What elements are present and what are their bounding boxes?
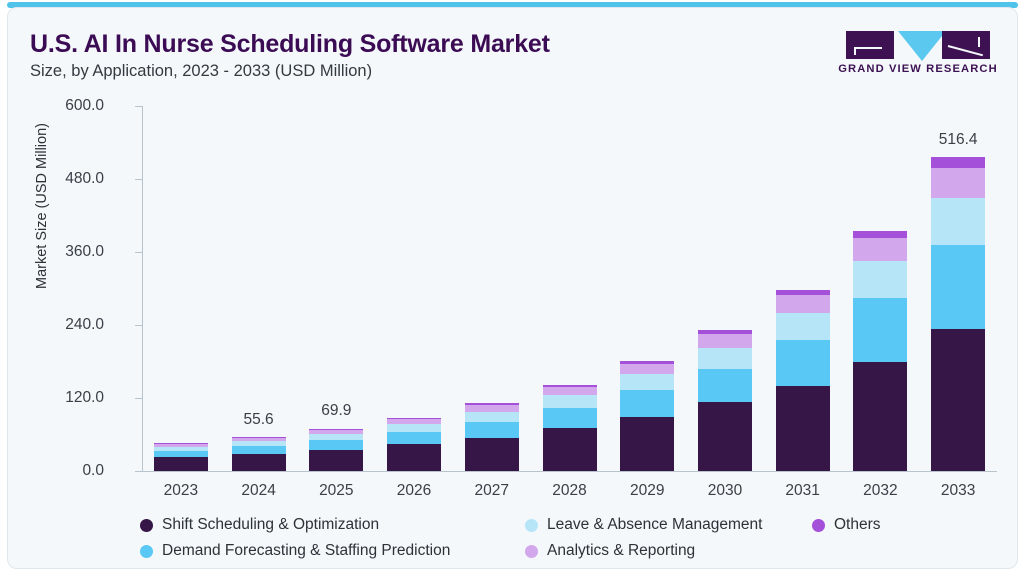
- bar-segment[interactable]: [620, 390, 674, 416]
- bar-segment[interactable]: [543, 395, 597, 408]
- bar-segment[interactable]: [387, 432, 441, 445]
- bar-segment[interactable]: [931, 329, 985, 471]
- bar-segment[interactable]: [853, 238, 907, 261]
- chart-screenshot: U.S. AI In Nurse Scheduling Software Mar…: [0, 0, 1025, 576]
- bar-segment[interactable]: [387, 424, 441, 432]
- y-axis-tick-label: 600.0: [26, 97, 104, 115]
- bar-2024[interactable]: [232, 437, 286, 471]
- y-axis-line: [142, 106, 143, 471]
- legend-color-dot: [812, 519, 825, 532]
- legend-item[interactable]: Analytics & Reporting: [525, 542, 695, 560]
- bar-segment[interactable]: [232, 446, 286, 454]
- y-axis-tick-mark: [135, 325, 143, 326]
- x-axis-line: [142, 471, 997, 472]
- legend-item[interactable]: Shift Scheduling & Optimization: [140, 516, 379, 534]
- bar-2030[interactable]: [698, 330, 752, 471]
- y-axis-tick-label: 0.0: [26, 462, 104, 480]
- bar-total-label: 69.9: [276, 402, 396, 420]
- bar-segment[interactable]: [698, 402, 752, 471]
- bar-segment[interactable]: [465, 412, 519, 422]
- chart-plot-area: Market Size (USD Million) 0.0120.0240.03…: [8, 8, 1018, 569]
- bar-segment[interactable]: [776, 313, 830, 340]
- legend-color-dot: [525, 545, 538, 558]
- bar-segment[interactable]: [698, 369, 752, 403]
- bar-segment[interactable]: [543, 408, 597, 428]
- y-axis-tick-label: 120.0: [26, 389, 104, 407]
- bar-2031[interactable]: [776, 290, 830, 471]
- bar-segment[interactable]: [465, 438, 519, 471]
- bar-total-label: 516.4: [898, 131, 1018, 149]
- bar-segment[interactable]: [387, 444, 441, 471]
- bar-segment[interactable]: [232, 454, 286, 471]
- x-axis-tick-label: 2033: [903, 482, 1013, 500]
- bar-segment[interactable]: [853, 298, 907, 362]
- legend-color-dot: [140, 545, 153, 558]
- bar-segment[interactable]: [931, 168, 985, 198]
- bar-segment[interactable]: [931, 157, 985, 168]
- legend-label: Demand Forecasting & Staffing Prediction: [162, 542, 450, 560]
- bar-segment[interactable]: [776, 386, 830, 471]
- y-axis-tick-mark: [135, 471, 143, 472]
- y-axis-tick-label: 360.0: [26, 243, 104, 261]
- y-axis-tick-mark: [135, 252, 143, 253]
- bar-segment[interactable]: [931, 245, 985, 328]
- bar-2023[interactable]: [154, 443, 208, 471]
- bar-segment[interactable]: [620, 374, 674, 390]
- bar-segment[interactable]: [309, 440, 363, 450]
- bar-2032[interactable]: [853, 231, 907, 471]
- bar-segment[interactable]: [931, 198, 985, 245]
- y-axis-tick-mark: [135, 106, 143, 107]
- bar-segment[interactable]: [776, 295, 830, 312]
- bar-segment[interactable]: [853, 362, 907, 472]
- bar-2033[interactable]: [931, 157, 985, 471]
- bar-segment[interactable]: [309, 450, 363, 471]
- legend-color-dot: [140, 519, 153, 532]
- bar-segment[interactable]: [620, 364, 674, 374]
- bar-segment[interactable]: [853, 261, 907, 297]
- legend-label: Leave & Absence Management: [547, 516, 762, 534]
- bar-segment[interactable]: [698, 348, 752, 369]
- bar-segment[interactable]: [154, 457, 208, 471]
- bar-segment[interactable]: [853, 231, 907, 239]
- legend-color-dot: [525, 519, 538, 532]
- bar-2027[interactable]: [465, 403, 519, 471]
- bar-2028[interactable]: [543, 385, 597, 471]
- bar-segment[interactable]: [465, 422, 519, 438]
- bar-2029[interactable]: [620, 361, 674, 471]
- legend-label: Others: [834, 516, 881, 534]
- legend-item[interactable]: Demand Forecasting & Staffing Prediction: [140, 542, 450, 560]
- bar-2025[interactable]: [309, 429, 363, 471]
- chart-legend: Shift Scheduling & OptimizationDemand Fo…: [140, 516, 1000, 566]
- bar-2026[interactable]: [387, 418, 441, 472]
- bar-segment[interactable]: [776, 340, 830, 387]
- y-axis-tick-label: 480.0: [26, 170, 104, 188]
- legend-item[interactable]: Others: [812, 516, 881, 534]
- chart-card: U.S. AI In Nurse Scheduling Software Mar…: [7, 7, 1018, 569]
- legend-label: Shift Scheduling & Optimization: [162, 516, 379, 534]
- y-axis-tick-mark: [135, 398, 143, 399]
- legend-label: Analytics & Reporting: [547, 542, 695, 560]
- bar-segment[interactable]: [620, 417, 674, 471]
- bar-segment[interactable]: [698, 334, 752, 347]
- y-axis-tick-mark: [135, 179, 143, 180]
- legend-item[interactable]: Leave & Absence Management: [525, 516, 762, 534]
- bar-segment[interactable]: [543, 387, 597, 395]
- y-axis-tick-label: 240.0: [26, 316, 104, 334]
- bar-segment[interactable]: [543, 428, 597, 471]
